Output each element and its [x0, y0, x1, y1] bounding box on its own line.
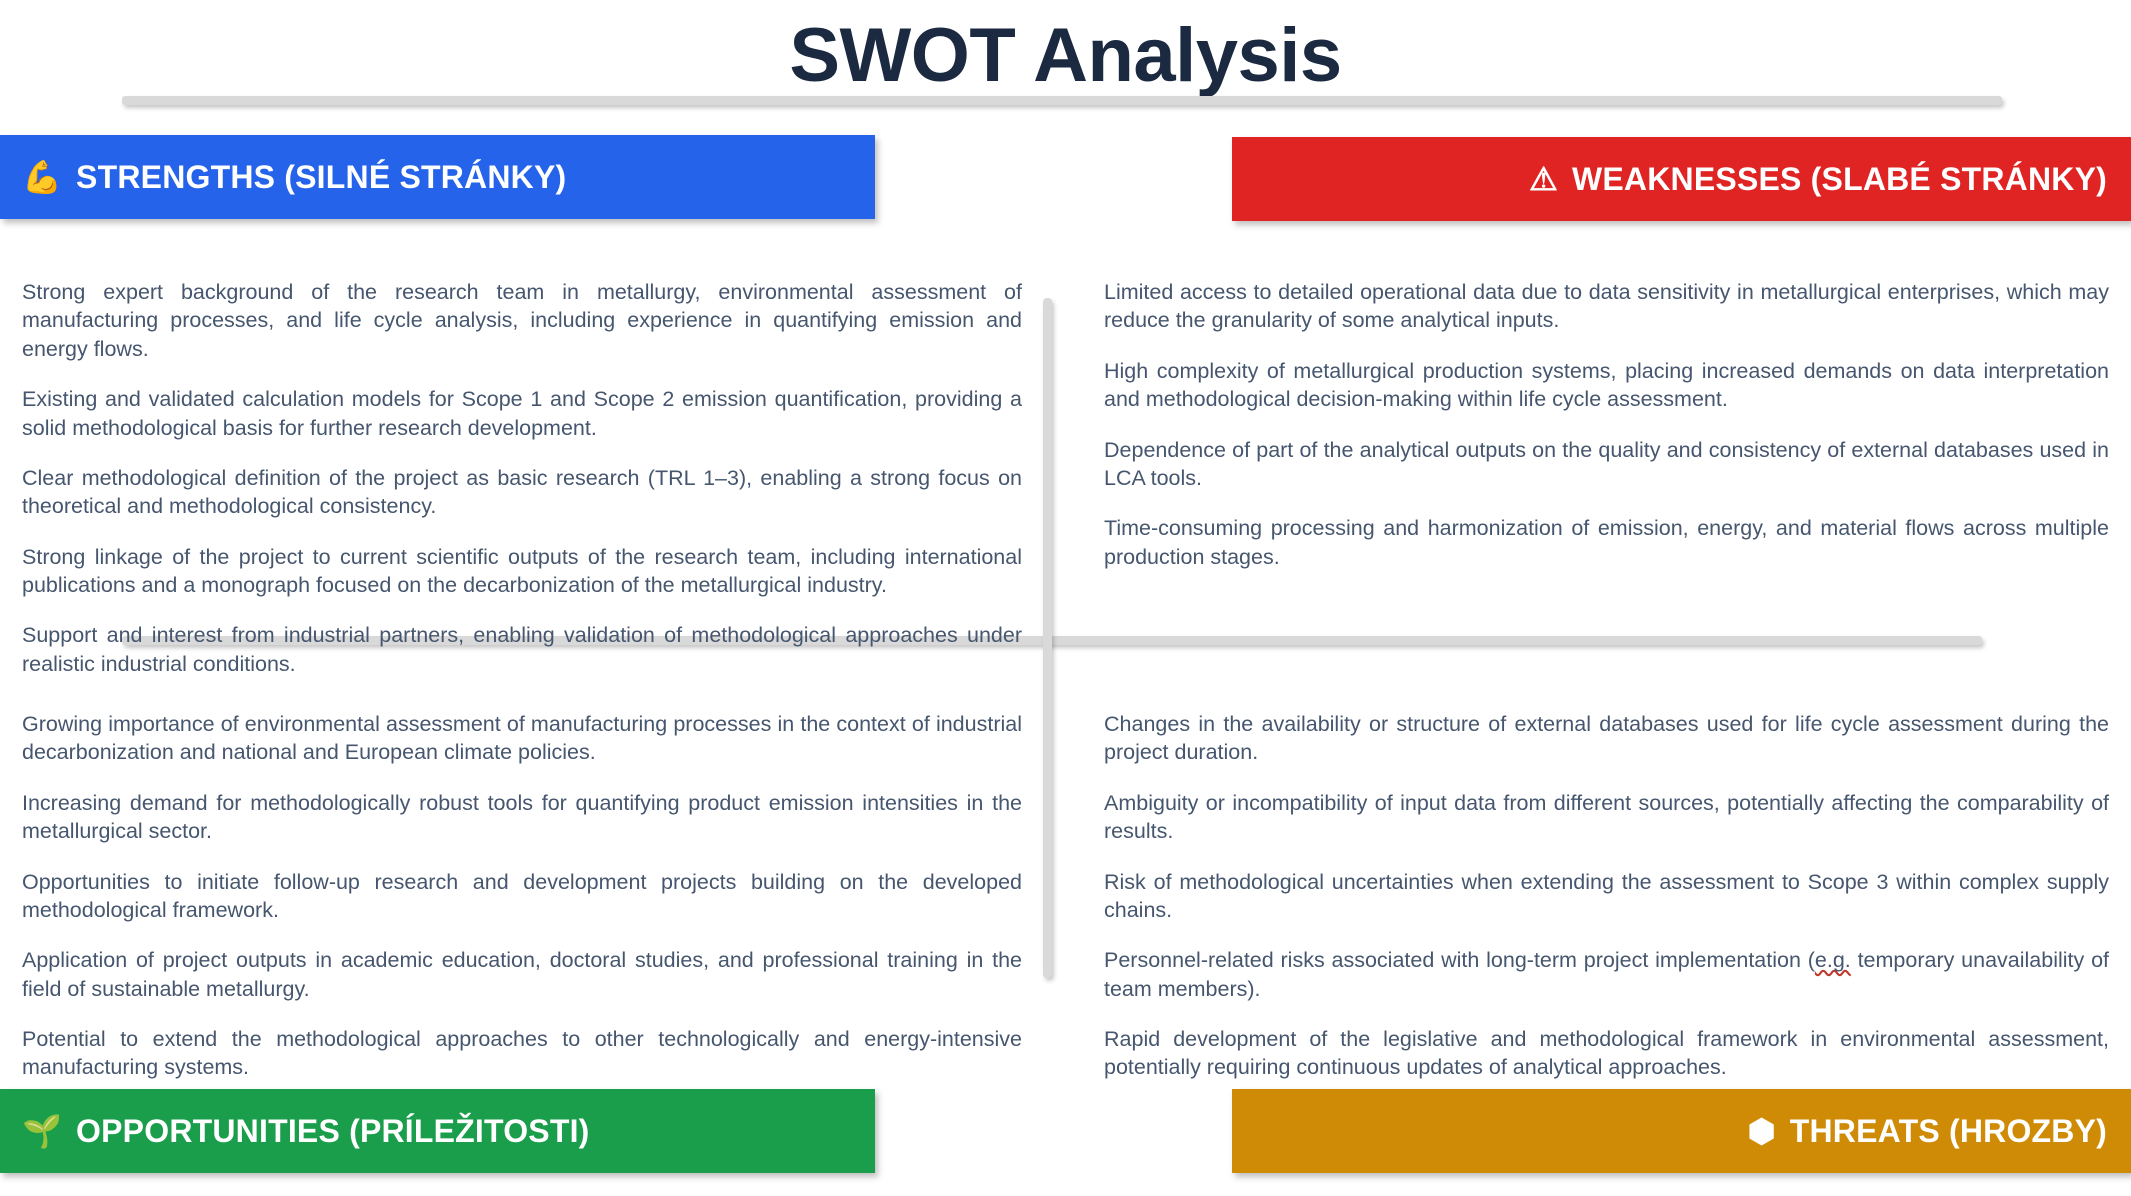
swot-item: High complexity of metallurgical product…	[1104, 357, 2109, 414]
quadrant-header-weaknesses[interactable]: ⚠ WEAKNESSES (SLABÉ STRÁNKY)	[1232, 137, 2131, 221]
quadrant-header-opportunities[interactable]: 🌱 OPPORTUNITIES (PRÍLEŽITOSTI)	[0, 1089, 875, 1173]
quadrant-header-threats-label: THREATS (HROZBY)	[1790, 1113, 2107, 1150]
quadrant-body-weaknesses: Limited access to detailed operational d…	[1104, 278, 2109, 571]
swot-item: Strong linkage of the project to current…	[22, 543, 1022, 600]
swot-item: Support and interest from industrial par…	[22, 621, 1022, 678]
quadrant-header-opportunities-label: OPPORTUNITIES (PRÍLEŽITOSTI)	[76, 1113, 589, 1150]
divider-top	[122, 96, 2002, 105]
seedling-emoji: 🌱	[22, 1115, 62, 1147]
swot-item: Changes in the availability or structure…	[1104, 710, 2109, 767]
quadrant-header-threats[interactable]: ⬢ THREATS (HROZBY)	[1232, 1089, 2131, 1173]
warning-triangle-icon: ⚠	[1529, 163, 1558, 195]
swot-item: Existing and validated calculation model…	[22, 385, 1022, 442]
swot-item: Potential to extend the methodological a…	[22, 1025, 1022, 1082]
swot-item: Application of project outputs in academ…	[22, 946, 1022, 1003]
swot-item: Strong expert background of the research…	[22, 278, 1022, 363]
swot-item: Dependence of part of the analytical out…	[1104, 436, 2109, 493]
swot-item: Limited access to detailed operational d…	[1104, 278, 2109, 335]
quadrant-body-opportunities: Growing importance of environmental asse…	[22, 710, 1022, 1082]
divider-vertical	[1043, 298, 1052, 978]
swot-item: Personnel-related risks associated with …	[1104, 946, 2109, 1003]
quadrant-body-threats: Changes in the availability or structure…	[1104, 710, 2109, 1082]
quadrant-header-weaknesses-label: WEAKNESSES (SLABÉ STRÁNKY)	[1572, 161, 2107, 198]
swot-item: Clear methodological definition of the p…	[22, 464, 1022, 521]
shield-icon: ⬢	[1748, 1115, 1776, 1147]
swot-item: Ambiguity or incompatibility of input da…	[1104, 789, 2109, 846]
swot-item: Opportunities to initiate follow-up rese…	[22, 868, 1022, 925]
swot-item: Rapid development of the legislative and…	[1104, 1025, 2109, 1082]
swot-item: Risk of methodological uncertainties whe…	[1104, 868, 2109, 925]
spellcheck-token: e.g.	[1815, 948, 1851, 972]
swot-item: Growing importance of environmental asse…	[22, 710, 1022, 767]
flexed-biceps-emoji: 💪	[22, 161, 62, 193]
swot-slide: SWOT Analysis 💪 STRENGTHS (SILNÉ STRÁNKY…	[0, 0, 2131, 1196]
quadrant-header-strengths[interactable]: 💪 STRENGTHS (SILNÉ STRÁNKY)	[0, 135, 875, 219]
swot-item: Increasing demand for methodologically r…	[22, 789, 1022, 846]
quadrant-body-strengths: Strong expert background of the research…	[22, 278, 1022, 678]
swot-item: Time-consuming processing and harmonizat…	[1104, 514, 2109, 571]
quadrant-header-strengths-label: STRENGTHS (SILNÉ STRÁNKY)	[76, 159, 566, 196]
page-title: SWOT Analysis	[0, 12, 2131, 99]
